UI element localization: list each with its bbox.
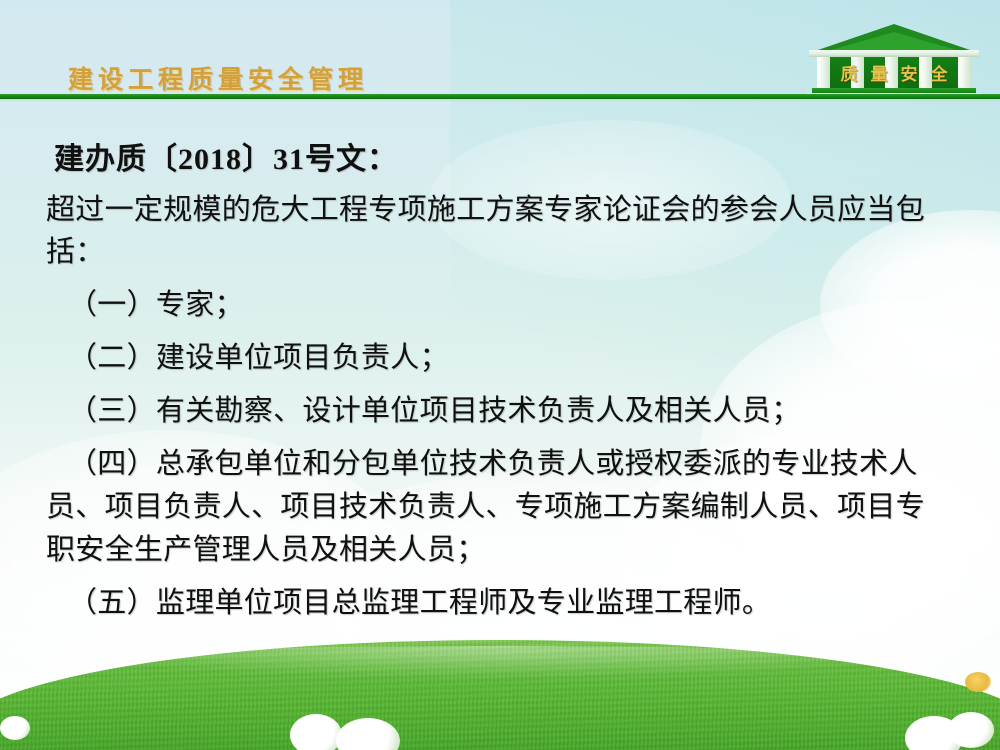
grass-highlight [46,646,953,680]
header-band: 建设工程质量安全管理 质量安全 [0,0,1000,101]
flower-icon [948,712,994,748]
header-divider-shadow [0,99,1000,102]
intro-paragraph: 超过一定规模的危大工程专项施工方案专家论证会的参会人员应当包括： [46,189,954,275]
flower-icon [965,672,991,692]
logo-label: 质量安全 [817,60,971,85]
list-item-2: （二）建设单位项目负责人； [46,337,954,380]
list-item-5: （五）监理单位项目总监理工程师及专业监理工程师。 [46,582,954,625]
slide-content: 建办质〔2018〕31号文： 超过一定规模的危大工程专项施工方案专家论证会的参会… [46,140,954,631]
list-item-4: （四）总承包单位和分包单位技术负责人或授权委派的专业技术人员、项目负责人、项目技… [46,443,954,572]
list-item-3: （三）有关勘察、设计单位项目技术负责人及相关人员； [46,390,954,433]
quality-safety-building-logo: 质量安全 [806,24,982,102]
list-item-1: （一）专家； [46,284,954,327]
roof-highlight-icon [828,32,960,51]
flower-icon [0,716,30,740]
entablature-icon [809,50,979,57]
slide: 建设工程质量安全管理 质量安全 建办质〔2018〕31号文： 超过一定规模的危大… [0,0,1000,750]
page-title: 建设工程质量安全管理 [68,60,368,96]
flower-icon [290,714,342,750]
document-reference-title: 建办质〔2018〕31号文： [54,140,954,181]
grass-hill [0,640,1000,750]
